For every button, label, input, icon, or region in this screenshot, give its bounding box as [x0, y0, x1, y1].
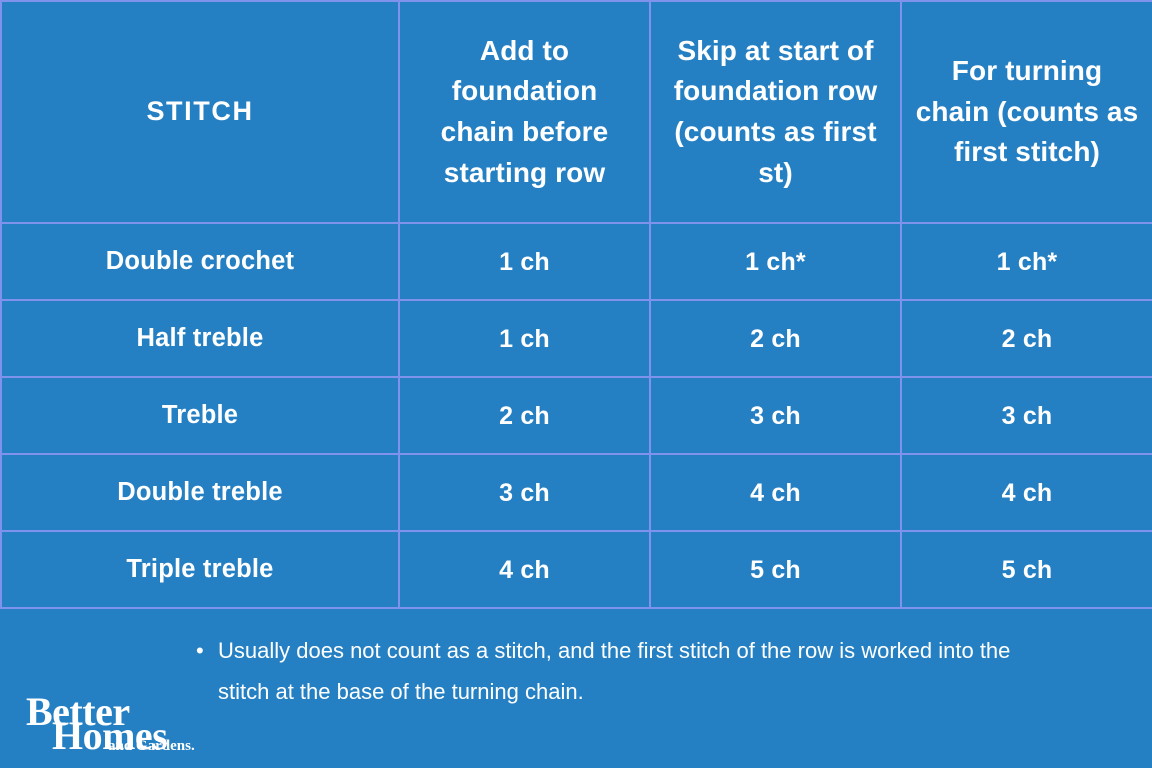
logo-text-and-gardens: and Gardens.	[108, 739, 195, 754]
cell-skip-at-start: 2 ch	[650, 300, 901, 377]
table-row: Half treble 1 ch 2 ch 2 ch	[1, 300, 1152, 377]
cell-skip-at-start: 1 ch*	[650, 223, 901, 300]
footnote-item: • Usually does not count as a stitch, an…	[196, 630, 1036, 712]
cell-add-to-foundation: 2 ch	[399, 377, 650, 454]
table-row: Treble 2 ch 3 ch 3 ch	[1, 377, 1152, 454]
footnote-text: Usually does not count as a stitch, and …	[218, 638, 1010, 704]
cell-turning-chain: 3 ch	[901, 377, 1152, 454]
cell-stitch-name: Double treble	[1, 454, 399, 531]
table-header: STITCH Add to foundation chain before st…	[1, 1, 1152, 223]
stitch-chain-table: STITCH Add to foundation chain before st…	[0, 0, 1152, 609]
column-header-turning-chain: For turning chain (counts as first stitc…	[901, 1, 1152, 223]
cell-turning-chain: 4 ch	[901, 454, 1152, 531]
infographic-root: STITCH Add to foundation chain before st…	[0, 0, 1152, 768]
bullet-icon: •	[196, 630, 204, 671]
cell-add-to-foundation: 3 ch	[399, 454, 650, 531]
cell-stitch-name: Treble	[1, 377, 399, 454]
better-homes-and-gardens-logo: Better Homes and Gardens.	[14, 694, 214, 756]
cell-add-to-foundation: 4 ch	[399, 531, 650, 608]
column-header-add-to-foundation-chain: Add to foundation chain before starting …	[399, 1, 650, 223]
column-header-stitch: STITCH	[1, 1, 399, 223]
cell-stitch-name: Triple treble	[1, 531, 399, 608]
cell-stitch-name: Half treble	[1, 300, 399, 377]
cell-turning-chain: 1 ch*	[901, 223, 1152, 300]
table-body: Double crochet 1 ch 1 ch* 1 ch* Half tre…	[1, 223, 1152, 608]
cell-skip-at-start: 3 ch	[650, 377, 901, 454]
column-header-skip-at-start: Skip at start of foundation row (counts …	[650, 1, 901, 223]
cell-add-to-foundation: 1 ch	[399, 223, 650, 300]
cell-stitch-name: Double crochet	[1, 223, 399, 300]
cell-turning-chain: 5 ch	[901, 531, 1152, 608]
cell-turning-chain: 2 ch	[901, 300, 1152, 377]
table-header-row: STITCH Add to foundation chain before st…	[1, 1, 1152, 223]
table-row: Double crochet 1 ch 1 ch* 1 ch*	[1, 223, 1152, 300]
cell-skip-at-start: 4 ch	[650, 454, 901, 531]
table-row: Triple treble 4 ch 5 ch 5 ch	[1, 531, 1152, 608]
footnote-list: • Usually does not count as a stitch, an…	[196, 630, 1036, 712]
cell-skip-at-start: 5 ch	[650, 531, 901, 608]
cell-add-to-foundation: 1 ch	[399, 300, 650, 377]
table-row: Double treble 3 ch 4 ch 4 ch	[1, 454, 1152, 531]
